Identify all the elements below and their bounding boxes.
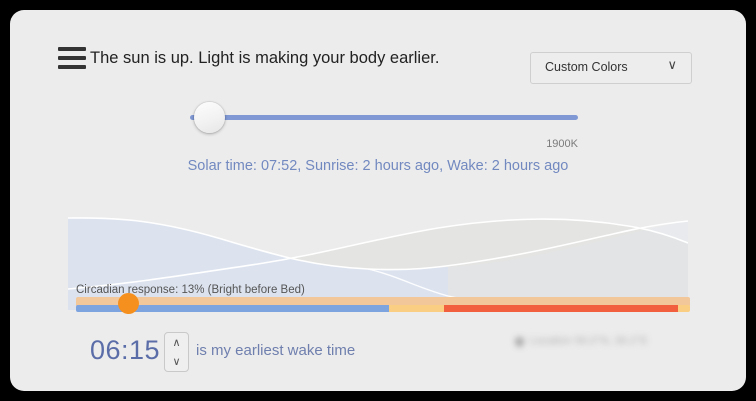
hamburger-bar bbox=[58, 65, 86, 69]
wake-time-stepper[interactable]: ∧ ∨ bbox=[164, 332, 189, 372]
kelvin-value-label: 1900K bbox=[478, 138, 578, 150]
header-bar: The sun is up. Light is making your body… bbox=[10, 10, 746, 72]
color-temperature-slider-track[interactable] bbox=[190, 115, 578, 120]
wake-time-caption: is my earliest wake time bbox=[196, 342, 355, 359]
circadian-response-label: Circadian response: 13% (Bright before B… bbox=[76, 284, 305, 296]
location-pin-icon bbox=[513, 335, 526, 348]
red-segment bbox=[444, 305, 677, 312]
solar-summary-text: Solar time: 07:52, Sunrise: 2 hours ago,… bbox=[10, 158, 746, 174]
stepper-up-icon[interactable]: ∧ bbox=[165, 333, 188, 352]
yellow-tip bbox=[678, 305, 690, 312]
yellow-segment bbox=[389, 305, 444, 312]
app-window: The sun is up. Light is making your body… bbox=[10, 10, 746, 391]
color-temperature-slider-group: 1900K bbox=[10, 72, 746, 157]
current-time-marker-icon[interactable] bbox=[118, 293, 139, 314]
hamburger-bar bbox=[58, 56, 86, 60]
circadian-chart: Circadian response: 13% (Bright before B… bbox=[68, 206, 688, 310]
chevron-down-icon: ∨ bbox=[667, 58, 677, 73]
color-temperature-slider-thumb[interactable] bbox=[194, 102, 225, 133]
hamburger-icon[interactable] bbox=[58, 47, 86, 69]
stepper-down-icon[interactable]: ∨ bbox=[165, 352, 188, 371]
wake-time-value[interactable]: 06:15 bbox=[90, 335, 160, 366]
headline-text: The sun is up. Light is making your body… bbox=[90, 46, 439, 70]
circadian-color-bar[interactable] bbox=[76, 305, 690, 312]
location-text: Location 56.0°N, 36.2°E bbox=[530, 335, 648, 347]
hamburger-bar bbox=[58, 47, 86, 51]
footer-bar: 06:15 ∧ ∨ is my earliest wake time bbox=[10, 320, 746, 391]
location-readout-obscured: Location 56.0°N, 36.2°E bbox=[515, 335, 648, 347]
